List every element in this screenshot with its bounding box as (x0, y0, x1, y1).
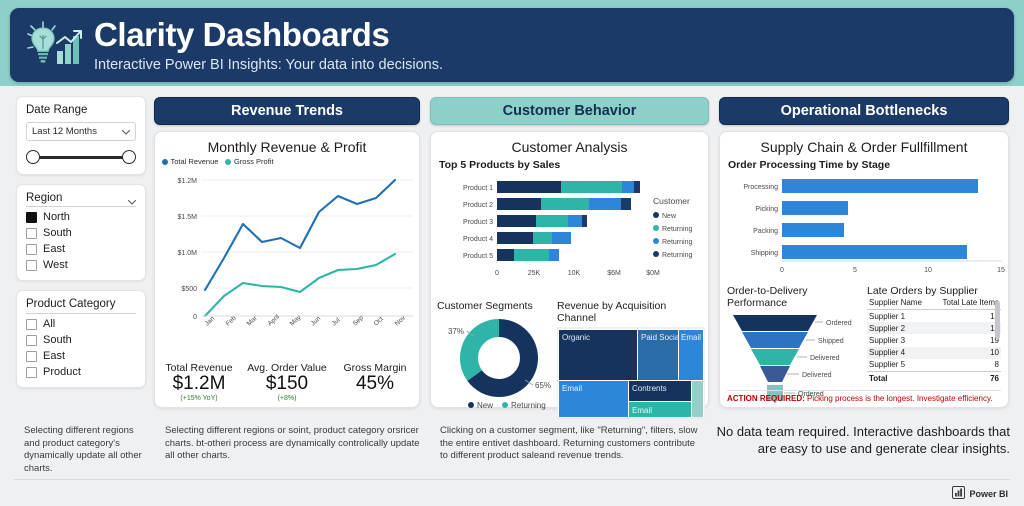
treemap-tile[interactable]: Email (629, 402, 691, 417)
table-row[interactable]: Supplier 3 19 (867, 334, 1001, 346)
table-row[interactable]: Supplier 5 8 (867, 359, 1001, 372)
x-tick-label: 0 (780, 267, 784, 274)
treemap-tile[interactable]: Organic (559, 330, 637, 380)
x-tick-label: April (267, 313, 282, 327)
x-tick-label: Jun (310, 315, 323, 327)
x-tick-label: 25K (528, 270, 541, 277)
chevron-down-icon (121, 127, 130, 136)
checkbox-icon[interactable] (26, 260, 37, 271)
legend-label: New (662, 213, 677, 220)
region-option-label: West (43, 259, 68, 271)
product-category-option-all[interactable]: All (26, 318, 136, 330)
funnel-label: Ordered (826, 320, 852, 327)
slider-track (33, 156, 129, 159)
funnel-segment-ordered[interactable] (733, 315, 817, 331)
product-category-option-east[interactable]: East (26, 350, 136, 362)
customer-segments-title: Customer Segments (437, 300, 557, 312)
bar-processing[interactable] (782, 179, 978, 193)
region-option-label: North (43, 211, 70, 223)
bar-row[interactable] (497, 215, 587, 227)
treemap-label: Email (681, 333, 701, 342)
y-tick-label: Picking (755, 206, 778, 213)
revenue-line-chart[interactable]: $1.2M $1.5M $1.0M $500 0 Jan Feb Mar Apr… (155, 166, 421, 346)
page-title: Clarity Dashboards (94, 16, 443, 54)
kpi-delta: (+8%) (243, 395, 331, 402)
acquisition-channel-treemap[interactable]: Organic Paid Social Email Email (557, 324, 705, 420)
treemap-tile[interactable]: Email (679, 330, 703, 380)
x-tick-label: 0 (495, 270, 499, 277)
cell-supplier-name: Supplier 3 (867, 334, 932, 346)
checkbox-icon[interactable] (26, 212, 37, 223)
column-header-supplier-name: Supplier Name (867, 297, 932, 310)
series-gross-profit (205, 254, 395, 316)
legend-label: Total Revenue (171, 157, 219, 166)
scrollbar-thumb[interactable] (995, 301, 1000, 339)
cell-late-items: 19 (932, 334, 1001, 346)
late-orders-title: Late Orders by Supplier (867, 285, 1001, 297)
date-range-value: Last 12 Months (32, 126, 97, 137)
y-tick-label: 0 (193, 314, 197, 321)
top-products-title: Top 5 Products by Sales (431, 159, 708, 171)
cell-total-value: 76 (932, 371, 1001, 384)
legend-swatch-icon (225, 159, 231, 165)
table-header-row: Supplier Name Total Late Items (867, 297, 1001, 310)
customer-segments-donut-chart[interactable]: 37% 65% New Returning (437, 312, 557, 416)
cell-supplier-name: Supplier 5 (867, 359, 932, 372)
legend-swatch-icon (653, 212, 659, 218)
kpi-delta: (+15% YoY) (155, 395, 243, 402)
tab-operational-bottlenecks[interactable]: Operational Bottlenecks (719, 97, 1009, 125)
tab-customer-behavior[interactable]: Customer Behavior (430, 97, 709, 125)
legend-label: Gross Profit (234, 157, 274, 166)
customer-chart-title: Customer Analysis (431, 132, 708, 155)
caption-revenue-filters: Selecting different regions and product … (24, 425, 146, 475)
legend-swatch-icon (653, 251, 659, 257)
power-bi-icon (952, 486, 969, 501)
y-tick-label: Product 1 (463, 185, 493, 192)
region-option-label: East (43, 243, 65, 255)
cell-late-items: 12 (932, 322, 1001, 334)
y-tick-label: Product 4 (463, 236, 493, 243)
legend-item-total-revenue[interactable]: Total Revenue (162, 157, 218, 166)
y-tick-label: $1.2M (178, 178, 198, 185)
date-range-title: Date Range (26, 104, 136, 116)
table-scrollbar[interactable] (995, 295, 1000, 351)
page-subtitle: Interactive Power BI Insights: Your data… (94, 55, 443, 75)
x-tick-label: Jan (204, 315, 217, 327)
legend-label: New (477, 401, 493, 410)
y-tick-label: $1.0M (178, 250, 198, 257)
region-option-south[interactable]: South (26, 227, 136, 239)
x-tick-label: Jul (331, 316, 342, 327)
funnel-label: Shipped (818, 338, 844, 345)
revenue-chart-title: Monthly Revenue & Profit (155, 132, 419, 155)
action-required-prefix: ACTION REQUIRED: (727, 394, 805, 403)
top-products-stacked-bar-chart[interactable]: Product 1 Product 2 Product 3 Product 4 … (431, 171, 710, 293)
filter-sidebar: Date Range Last 12 Months Region (16, 96, 146, 397)
treemap-label: Paid Social (641, 333, 681, 342)
product-category-option-label: All (43, 318, 55, 330)
kpi-avg-order-value: Avg. Order Value $150 (+8%) (243, 362, 331, 402)
kpi-value: 45% (331, 373, 419, 395)
funnel-title: Order-to-Delivery Performance (727, 285, 867, 309)
table-row[interactable]: Supplier 2 12 (867, 322, 1001, 334)
bar-shipping[interactable] (782, 245, 967, 259)
acquisition-channel-block: Revenue by Acquisition Channel Organic P… (557, 300, 705, 425)
funnel-segment-delivered-1[interactable] (751, 349, 799, 365)
region-card: Region North South East West (16, 184, 146, 281)
table-row[interactable]: Supplier 1 13 (867, 310, 1001, 323)
order-processing-title: Order Processing Time by Stage (720, 159, 1008, 171)
chevron-down-icon (127, 194, 136, 203)
caption-customer-segments: Clicking on a customer segment, like "Re… (440, 425, 700, 463)
bar-row[interactable] (497, 198, 631, 210)
lightbulb-bar-chart-icon (24, 15, 86, 75)
x-tick-label: 5 (853, 267, 857, 274)
panel-operational-bottlenecks: Supply Chain & Order Fullfillment Order … (719, 131, 1009, 408)
product-category-option-label: South (43, 334, 72, 346)
bar-row[interactable] (497, 249, 559, 261)
treemap-label: Email (562, 384, 582, 393)
supply-chain-title: Supply Chain & Order Fullfillment (720, 132, 1008, 155)
checkbox-icon[interactable] (26, 228, 37, 239)
x-tick-label: 10K (568, 270, 581, 277)
product-category-title: Product Category (26, 298, 136, 314)
donut-data-label: 37% (448, 327, 464, 336)
cell-supplier-name: Supplier 2 (867, 322, 932, 334)
cell-supplier-name: Supplier 1 (867, 310, 932, 323)
kpi-value: $1.2M (155, 373, 243, 395)
y-tick-label: Shipping (751, 250, 778, 257)
legend-label: Returning (511, 401, 546, 410)
column-header-total-late-items: Total Late Items (932, 297, 1001, 310)
treemap-label: Contrents (632, 384, 667, 393)
action-required-banner: ACTION REQUIRED: Picking process is the … (727, 390, 1001, 403)
y-tick-label: Processing (743, 184, 778, 191)
x-tick-label: 15 (997, 267, 1005, 274)
panel-revenue-trends: Monthly Revenue & Profit Total Revenue G… (154, 131, 420, 408)
product-category-option-label: East (43, 350, 65, 362)
y-tick-label: Product 3 (463, 219, 493, 226)
caption-revenue-charts: Selecting different regions or soint, pr… (165, 425, 425, 463)
treemap-label: Email (632, 406, 652, 415)
cell-supplier-name: Supplier 4 (867, 347, 932, 359)
product-category-option-south[interactable]: South (26, 334, 136, 346)
region-option-north[interactable]: North (26, 211, 136, 223)
legend-swatch-icon (468, 402, 474, 408)
app-header: Clarity Dashboards Interactive Power BI … (10, 8, 1014, 82)
treemap-tile[interactable]: Email (559, 381, 628, 417)
donut-data-label: 65% (535, 381, 551, 390)
y-tick-label: Product 2 (463, 202, 493, 209)
cell-late-items: 13 (932, 310, 1001, 323)
kpi-gross-margin: Gross Margin 45% (331, 362, 419, 402)
table-total-row: Total 76 (867, 371, 1001, 384)
footer-divider (14, 479, 1010, 480)
kpi-value: $150 (243, 373, 331, 395)
revenue-legend: Total Revenue Gross Profit (155, 157, 419, 166)
treemap-label: Organic (562, 333, 590, 342)
legend-swatch-icon (162, 159, 168, 165)
region-header[interactable]: Region (26, 192, 136, 207)
legend-label: Returning (662, 226, 692, 233)
legend-label: Returning (662, 239, 692, 246)
slider-handle-start[interactable] (26, 150, 40, 164)
bar-row[interactable] (497, 181, 640, 193)
series-total-revenue (205, 180, 395, 290)
action-required-text: Picking process is the longest. Investig… (805, 394, 993, 403)
dashboard-root: Clarity Dashboards Interactive Power BI … (0, 0, 1024, 506)
power-bi-brand: Power BI (952, 486, 1008, 501)
cell-late-items: 10 (932, 347, 1001, 359)
slider-handle-end[interactable] (122, 150, 136, 164)
date-range-slider[interactable] (26, 149, 136, 165)
bar-packing[interactable] (782, 223, 844, 237)
treemap-tile[interactable]: Contrents (629, 381, 691, 401)
date-range-card: Date Range Last 12 Months (16, 96, 146, 175)
y-tick-label: $1.5M (178, 214, 198, 221)
legend-swatch-icon (653, 238, 659, 244)
x-tick-label: Oct (373, 315, 385, 327)
kpi-row: Total Revenue $1.2M (+15% YoY) Avg. Orde… (155, 362, 419, 402)
legend-title: Customer (653, 196, 690, 206)
funnel-label: Delivered (810, 355, 840, 362)
region-option-east[interactable]: East (26, 243, 136, 255)
product-category-option-product[interactable]: Product (26, 366, 136, 378)
region-option-west[interactable]: West (26, 259, 136, 271)
power-bi-label: Power BI (969, 489, 1008, 499)
y-tick-label: Product 5 (463, 253, 493, 260)
checkbox-icon[interactable] (26, 335, 37, 346)
checkbox-icon[interactable] (26, 351, 37, 362)
bar-row[interactable] (497, 232, 571, 244)
customer-segments-block: Customer Segments 37% 65% New Returning (437, 300, 557, 425)
order-processing-bar-chart[interactable]: Processing Picking Packing Shipping 0 5 … (720, 171, 1010, 281)
product-category-card: Product Category All South East Product (16, 290, 146, 388)
legend-swatch-icon (502, 402, 508, 408)
funnel-segment-shipped[interactable] (742, 332, 808, 348)
bar-picking[interactable] (782, 201, 848, 215)
cell-total-label: Total (867, 371, 932, 384)
checkbox-icon[interactable] (26, 319, 37, 330)
panel-customer-behavior: Customer Analysis Top 5 Products by Sale… (430, 131, 709, 408)
y-tick-label: Packing (753, 228, 778, 235)
product-category-option-label: Product (43, 366, 81, 378)
treemap-tile[interactable]: Paid Social (638, 330, 681, 380)
treemap-title: Revenue by Acquisition Channel (557, 300, 705, 324)
checkbox-icon[interactable] (26, 244, 37, 255)
x-tick-label: $6M (607, 270, 621, 277)
checkbox-icon[interactable] (26, 367, 37, 378)
funnel-segment-delivered-2[interactable] (760, 366, 790, 382)
legend-item-gross-profit[interactable]: Gross Profit (225, 157, 273, 166)
treemap-tile[interactable] (692, 381, 703, 417)
x-tick-label: 10 (924, 267, 932, 274)
table-row[interactable]: Supplier 4 10 (867, 347, 1001, 359)
legend-label: Returning (662, 252, 692, 259)
x-tick-label: $0M (646, 270, 660, 277)
region-title: Region (26, 192, 62, 204)
funnel-label: Delivered (802, 372, 832, 379)
late-orders-table[interactable]: Supplier Name Total Late Items Supplier … (867, 297, 1001, 384)
tab-revenue-trends[interactable]: Revenue Trends (154, 97, 420, 125)
y-tick-label: $500 (181, 286, 197, 293)
kpi-total-revenue: Total Revenue $1.2M (+15% YoY) (155, 362, 243, 402)
date-range-select[interactable]: Last 12 Months (26, 122, 136, 141)
caption-no-data-team: No data team required. Interactive dashb… (700, 423, 1010, 457)
legend-swatch-icon (653, 225, 659, 231)
cell-late-items: 8 (932, 359, 1001, 372)
region-option-label: South (43, 227, 72, 239)
